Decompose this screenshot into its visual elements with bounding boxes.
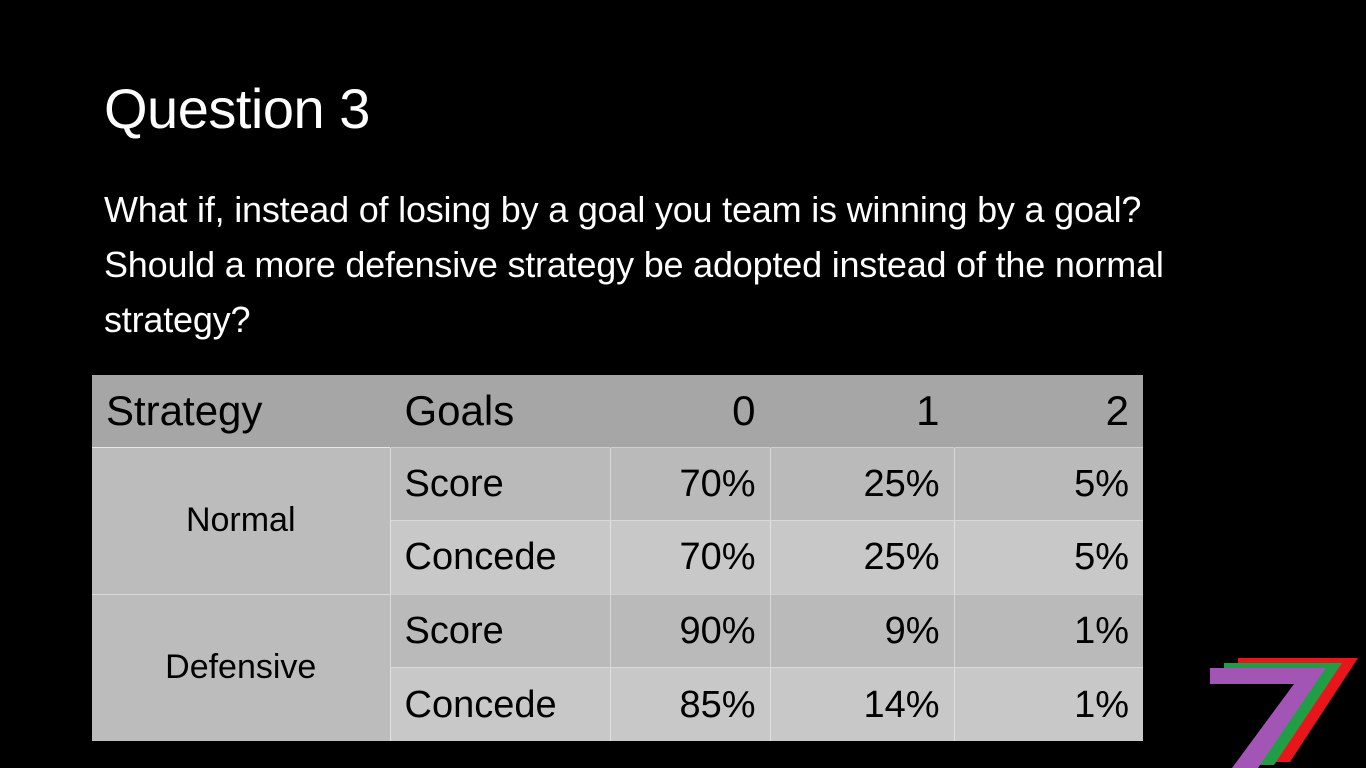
column-header-1: 1 <box>770 375 954 447</box>
cell-value: 9% <box>770 594 954 668</box>
table-header-row: Strategy Goals 0 1 2 <box>92 375 1143 447</box>
cell-value: 5% <box>954 521 1143 595</box>
cell-value: 1% <box>954 594 1143 668</box>
cell-value: 5% <box>954 447 1143 521</box>
column-header-strategy: Strategy <box>92 375 390 447</box>
cell-value: 70% <box>610 447 770 521</box>
cell-value: 70% <box>610 521 770 595</box>
table-row: Defensive Score 90% 9% 1% <box>92 594 1143 668</box>
strategy-probability-table: Strategy Goals 0 1 2 Normal Score 70% 25… <box>92 375 1143 741</box>
cell-value: 85% <box>610 668 770 742</box>
cell-value: 1% <box>954 668 1143 742</box>
cell-value: 25% <box>770 521 954 595</box>
strategy-table-container: Strategy Goals 0 1 2 Normal Score 70% 25… <box>92 375 1143 741</box>
slide-body-text: What if, instead of losing by a goal you… <box>104 182 1234 347</box>
table-body: Normal Score 70% 25% 5% Concede 70% 25% … <box>92 447 1143 741</box>
column-header-0: 0 <box>610 375 770 447</box>
seven-chevron-logo <box>1198 644 1366 768</box>
strategy-group-label-defensive: Defensive <box>92 594 390 741</box>
table-row: Normal Score 70% 25% 5% <box>92 447 1143 521</box>
cell-value: 14% <box>770 668 954 742</box>
row-label: Score <box>390 447 610 521</box>
page-title: Question 3 <box>104 78 370 140</box>
cell-value: 25% <box>770 447 954 521</box>
strategy-group-label-normal: Normal <box>92 447 390 594</box>
slide-canvas: Question 3 What if, instead of losing by… <box>0 0 1366 768</box>
row-label: Concede <box>390 521 610 595</box>
row-label: Score <box>390 594 610 668</box>
table-header: Strategy Goals 0 1 2 <box>92 375 1143 447</box>
column-header-2: 2 <box>954 375 1143 447</box>
row-label: Concede <box>390 668 610 742</box>
cell-value: 90% <box>610 594 770 668</box>
column-header-goals: Goals <box>390 375 610 447</box>
